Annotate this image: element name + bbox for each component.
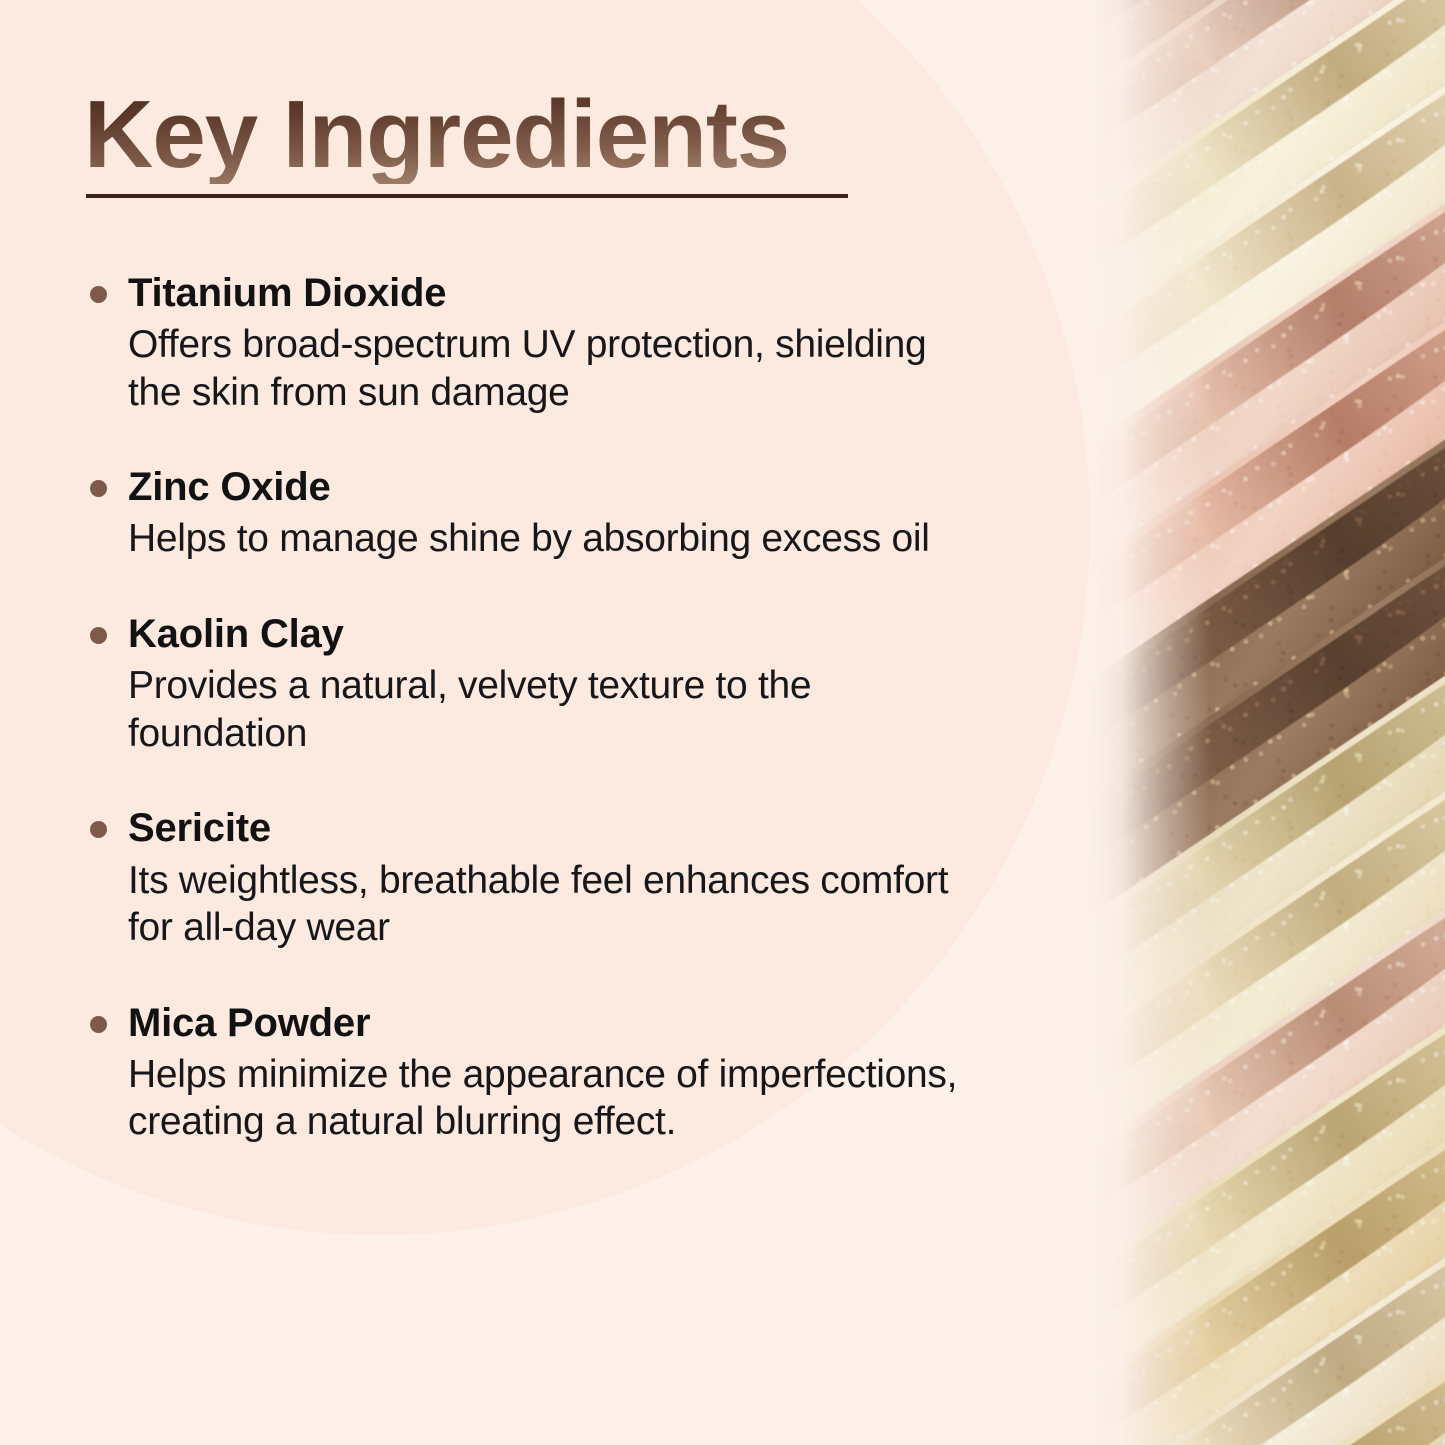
bullet-dot-icon <box>90 627 107 644</box>
ingredient-description: Helps minimize the appearance of imperfe… <box>128 1051 958 1146</box>
ingredient-item: Zinc OxideHelps to manage shine by absor… <box>84 464 964 563</box>
ingredient-name: Mica Powder <box>128 1000 964 1047</box>
ingredient-item: Kaolin ClayProvides a natural, velvety t… <box>84 611 964 757</box>
powder-swatch-bands <box>1090 0 1445 1445</box>
ingredient-description: Offers broad-spectrum UV protection, shi… <box>128 321 958 416</box>
ingredient-name: Zinc Oxide <box>128 464 964 511</box>
bullet-dot-icon <box>90 821 107 838</box>
bullet-dot-icon <box>90 480 107 497</box>
bullet-dot-icon <box>90 1016 107 1033</box>
ingredient-description: Helps to manage shine by absorbing exces… <box>128 515 958 563</box>
page-title: Key Ingredients <box>84 86 789 184</box>
ingredient-item: SericiteIts weightless, breathable feel … <box>84 805 964 951</box>
powder-swatch-image <box>1090 0 1445 1445</box>
ingredient-name: Kaolin Clay <box>128 611 964 658</box>
content-column: Key Ingredients Titanium DioxideOffers b… <box>0 0 1050 1445</box>
ingredient-item: Titanium DioxideOffers broad-spectrum UV… <box>84 270 964 416</box>
ingredient-name: Titanium Dioxide <box>128 270 964 317</box>
page-title-wrap: Key Ingredients <box>84 86 789 206</box>
ingredient-description: Provides a natural, velvety texture to t… <box>128 662 958 757</box>
bullet-dot-icon <box>90 286 107 303</box>
ingredients-list: Titanium DioxideOffers broad-spectrum UV… <box>84 270 964 1146</box>
ingredient-item: Mica PowderHelps minimize the appearance… <box>84 1000 964 1146</box>
ingredient-description: Its weightless, breathable feel enhances… <box>128 857 958 952</box>
ingredient-name: Sericite <box>128 805 964 852</box>
page-title-underline <box>86 194 848 198</box>
infographic-page: Key Ingredients Titanium DioxideOffers b… <box>0 0 1445 1445</box>
